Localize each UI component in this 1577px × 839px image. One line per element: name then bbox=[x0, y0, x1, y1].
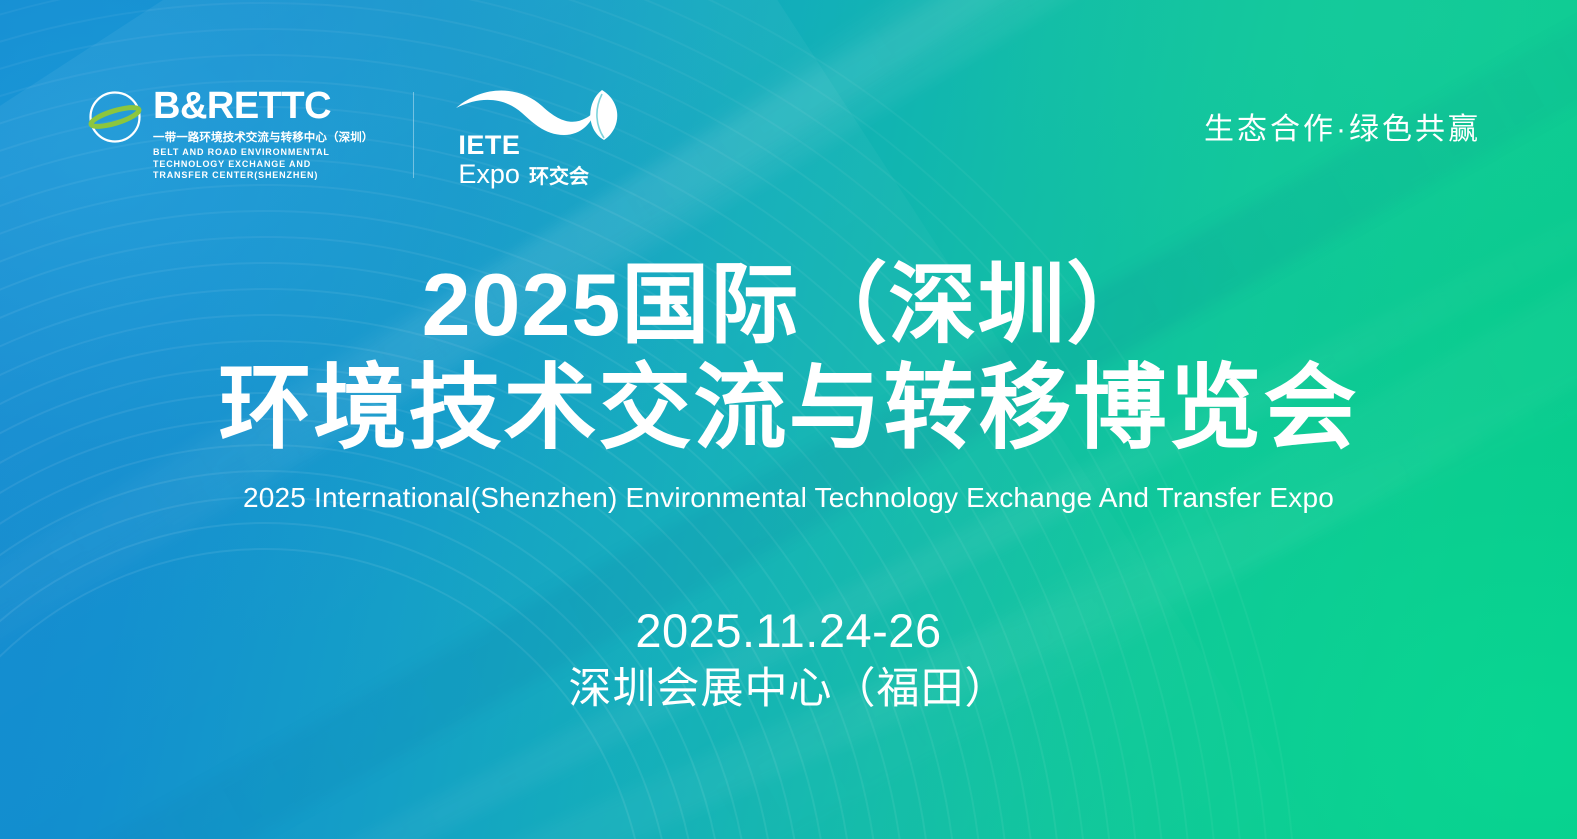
logo-divider bbox=[413, 92, 414, 178]
slogan-text: 生态合作·绿色共赢 bbox=[1204, 104, 1481, 148]
iete-expo-label: Expo bbox=[458, 161, 520, 188]
iete-logo[interactable]: IETE Expo 环交会 bbox=[454, 88, 618, 192]
brettc-text-block: B&RETTC 一带一路环境技术交流与转移中心（深圳） BELT AND ROA… bbox=[153, 88, 373, 182]
title-line-1: 2025国际（深圳） bbox=[0, 258, 1577, 351]
event-info-block: 2025.11.24-26 深圳会展中心（福田） bbox=[0, 605, 1577, 715]
globe-circle-icon bbox=[88, 90, 142, 144]
event-banner: B&RETTC 一带一路环境技术交流与转移中心（深圳） BELT AND ROA… bbox=[0, 0, 1577, 839]
brettc-wordmark: B&RETTC bbox=[153, 88, 373, 125]
brettc-english-name: BELT AND ROAD ENVIRONMENTAL TECHNOLOGY E… bbox=[153, 147, 353, 182]
iete-text-block: IETE Expo 环交会 bbox=[458, 132, 589, 188]
event-date: 2025.11.24-26 bbox=[0, 605, 1577, 658]
english-subtitle: 2025 International(Shenzhen) Environment… bbox=[0, 482, 1577, 514]
event-venue: 深圳会展中心（福田） bbox=[0, 664, 1577, 716]
iete-abbr: IETE bbox=[458, 132, 589, 159]
headline-block: 2025国际（深圳） 环境技术交流与转移博览会 2025 Internation… bbox=[0, 258, 1577, 514]
iete-chinese-label: 环交会 bbox=[529, 167, 589, 187]
brettc-chinese-name: 一带一路环境技术交流与转移中心（深圳） bbox=[153, 129, 373, 145]
title-line-2: 环境技术交流与转移博览会 bbox=[0, 359, 1577, 458]
logo-row: B&RETTC 一带一路环境技术交流与转移中心（深圳） BELT AND ROA… bbox=[88, 88, 618, 192]
banner-content: B&RETTC 一带一路环境技术交流与转移中心（深圳） BELT AND ROA… bbox=[0, 0, 1577, 839]
brettc-logo[interactable]: B&RETTC 一带一路环境技术交流与转移中心（深圳） BELT AND ROA… bbox=[88, 88, 373, 182]
